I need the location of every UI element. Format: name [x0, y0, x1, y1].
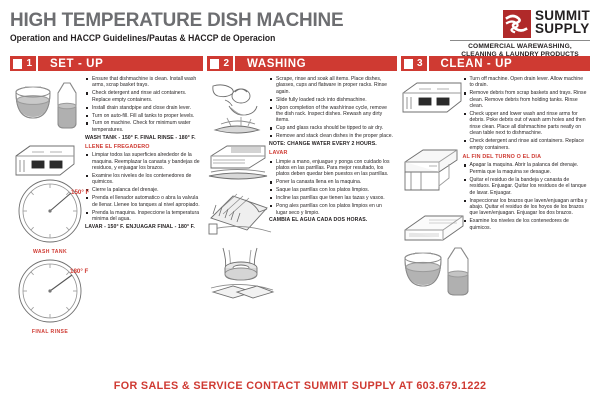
step-square-icon — [404, 59, 413, 69]
list-item: Check upper and lower wash and rinse arm… — [463, 111, 588, 137]
list-item: Scrape, rinse and soak all items. Place … — [269, 76, 394, 95]
step-2-spanish-note: CAMBIA EL AGUA CADA DOS HORAS. — [269, 217, 394, 223]
step-3-spanish-heading: AL FIN DEL TURNO O EL DIA — [463, 154, 588, 160]
wash-tank-gauge-label: WASH TANK — [14, 249, 86, 255]
step-1-spanish-heading: LLENE EL FREGADERO — [85, 144, 203, 150]
step-2-english-bullets: Scrape, rinse and soak all items. Place … — [269, 76, 394, 140]
detergent-pail-and-jug-art-2 — [401, 246, 473, 311]
hand-scraping-plate-art — [207, 80, 269, 147]
list-item: Limpiar todos las superficies alrededor … — [85, 152, 203, 171]
poster-header: HIGH TEMPERATURE DISH MACHINE Operation … — [10, 8, 590, 54]
step-column-washing: 2 WASHING — [207, 56, 397, 233]
logo-line-2: SUPPLY — [535, 23, 590, 36]
step-title-3: CLEAN - UP — [429, 56, 591, 71]
list-item: Prenda la maquina. Inspeccione la temper… — [85, 210, 203, 223]
list-item: Remove debris from scrap baskets and tra… — [463, 90, 588, 109]
detergent-pail-and-jug-art — [12, 80, 80, 143]
step-3-english-bullets: Turn off machine. Open drain lever. Allo… — [463, 76, 588, 151]
list-item: Ensure that dishmachine is clean. Instal… — [85, 76, 203, 89]
list-item: Inspeccionar los brazos que laven/enjuag… — [463, 198, 588, 217]
step-1-spanish-bullets: Limpiar todos las superficies alrededor … — [85, 152, 203, 222]
final-rinse-gauge-label: FINAL RINSE — [14, 329, 86, 335]
list-item: Pong ales parrillas con los platos limpi… — [269, 203, 394, 216]
step-2-spanish-block: LAVAR Limpie a mano, enjuague y ponga co… — [269, 150, 394, 223]
step-column-set-up: 1 SET - UP — [10, 56, 203, 233]
step-header-1: 1 SET - UP — [10, 56, 203, 71]
list-item: Limpie a mano, enjuague y ponga con cuid… — [269, 159, 394, 178]
step-number-badge-1: 1 — [10, 56, 36, 71]
step-header-3: 3 CLEAN - UP — [401, 56, 591, 71]
list-item: Install drain standpipe and close drain … — [85, 105, 203, 111]
loaded-dishrack-art — [207, 142, 269, 187]
list-item: Cup and glass racks should be tipped to … — [269, 125, 394, 131]
step-number-badge-2: 2 — [207, 56, 233, 71]
step-1-english-bullets: Ensure that dishmachine is clean. Instal… — [85, 76, 203, 133]
dishmachine-front-panel-art-2 — [401, 80, 463, 121]
dishrack-tipped-to-dry-art — [207, 184, 275, 245]
step-1-english-note: WASH TANK - 150° F. FINAL RINSE - 180° F… — [85, 135, 203, 141]
list-item: Prenda el llenador automatico o abra la … — [85, 195, 203, 208]
step-2-spanish-bullets: Limpie a mano, enjuague y ponga con cuid… — [269, 159, 394, 216]
poster-page: HIGH TEMPERATURE DISH MACHINE Operation … — [0, 0, 600, 400]
brand-logo: SUMMIT SUPPLY COMMERCIAL WAREWASHING, CL… — [450, 10, 590, 58]
step-title-1: SET - UP — [38, 56, 203, 71]
step-number-1: 1 — [26, 58, 32, 69]
list-item: Turn on machine. Check for minimum water… — [85, 120, 203, 133]
step-3-spanish-bullets: Apagar la maquina. Abrir la palanca del … — [463, 162, 588, 231]
step-number-3: 3 — [417, 58, 423, 69]
summit-ss-logo-icon — [503, 10, 531, 38]
step-column-clean-up: 3 CLEAN - UP — [401, 56, 591, 233]
step-title-2: WASHING — [235, 56, 397, 71]
step-square-icon — [210, 59, 219, 69]
list-item: Poner la canasta llena en la maquina. — [269, 179, 394, 185]
logo-tagline-1: COMMERCIAL WAREWASHING, — [450, 43, 590, 51]
list-item: Upon completion of the wash/rinse cycle,… — [269, 105, 394, 124]
final-rinse-gauge-art: 180° F FINAL RINSE — [14, 258, 86, 335]
step-number-badge-3: 3 — [401, 56, 427, 71]
footer-text: FOR SALES & SERVICE CONTACT SUMMIT SUPPL… — [114, 380, 487, 392]
final-rinse-gauge-value: 180° F — [70, 268, 89, 275]
list-item: Incline las parrillas que tienen las taz… — [269, 195, 394, 201]
step-header-2: 2 WASHING — [207, 56, 397, 71]
step-2-english-note: NOTE: CHANGE WATER EVERY 2 HOURS. — [269, 141, 394, 147]
wash-tank-gauge-value: 150° F — [71, 189, 90, 196]
list-item: Quitar el residuo de la bandeja y canast… — [463, 177, 588, 196]
step-1-english-block: Ensure that dishmachine is clean. Instal… — [85, 76, 203, 141]
list-item: Check detergent and rinse aid containers… — [463, 138, 588, 151]
list-item: Cierre la palanca del drenaje. — [85, 187, 203, 193]
step-2-spanish-heading: LAVAR — [269, 150, 394, 156]
step-1-spanish-block: LLENE EL FREGADERO Limpiar todos las sup… — [85, 144, 203, 230]
step-1-spanish-note: LAVAR - 150° F. ENJUAGAR FINAL - 180° F. — [85, 224, 203, 230]
list-item: Turn on auto-fill. Fill all tanks to pro… — [85, 113, 203, 119]
step-square-icon — [13, 59, 22, 69]
step-number-2: 2 — [223, 58, 229, 69]
steps-container: 1 SET - UP — [10, 56, 590, 233]
step-3-english-block: Turn off machine. Open drain lever. Allo… — [463, 76, 588, 151]
list-item: Saque las parrillas con los platos limpi… — [269, 187, 394, 193]
list-item: Turn off machine. Open drain lever. Allo… — [463, 76, 588, 89]
step-3-spanish-block: AL FIN DEL TURNO O EL DIA Apagar la maqu… — [463, 154, 588, 231]
list-item: Examine los niveles de los contenedores … — [85, 173, 203, 186]
wash-tank-gauge-art: 150° F WASH TANK — [14, 178, 86, 255]
list-item: Apagar la maquina. Abrir la palanca del … — [463, 162, 588, 175]
list-item: Examine los niveles de los contenedores … — [463, 218, 588, 231]
stacking-clean-dishes-art — [207, 242, 277, 307]
list-item: Check detergent and rinse aid containers… — [85, 90, 203, 103]
list-item: Slide fully loaded rack into dishmachine… — [269, 97, 394, 103]
step-2-english-block: Scrape, rinse and soak all items. Place … — [269, 76, 394, 147]
footer-contact: FOR SALES & SERVICE CONTACT SUMMIT SUPPL… — [0, 380, 600, 392]
list-item: Remove and stack clean dishes in the pro… — [269, 133, 394, 139]
scrap-basket-tray-art — [401, 146, 463, 203]
